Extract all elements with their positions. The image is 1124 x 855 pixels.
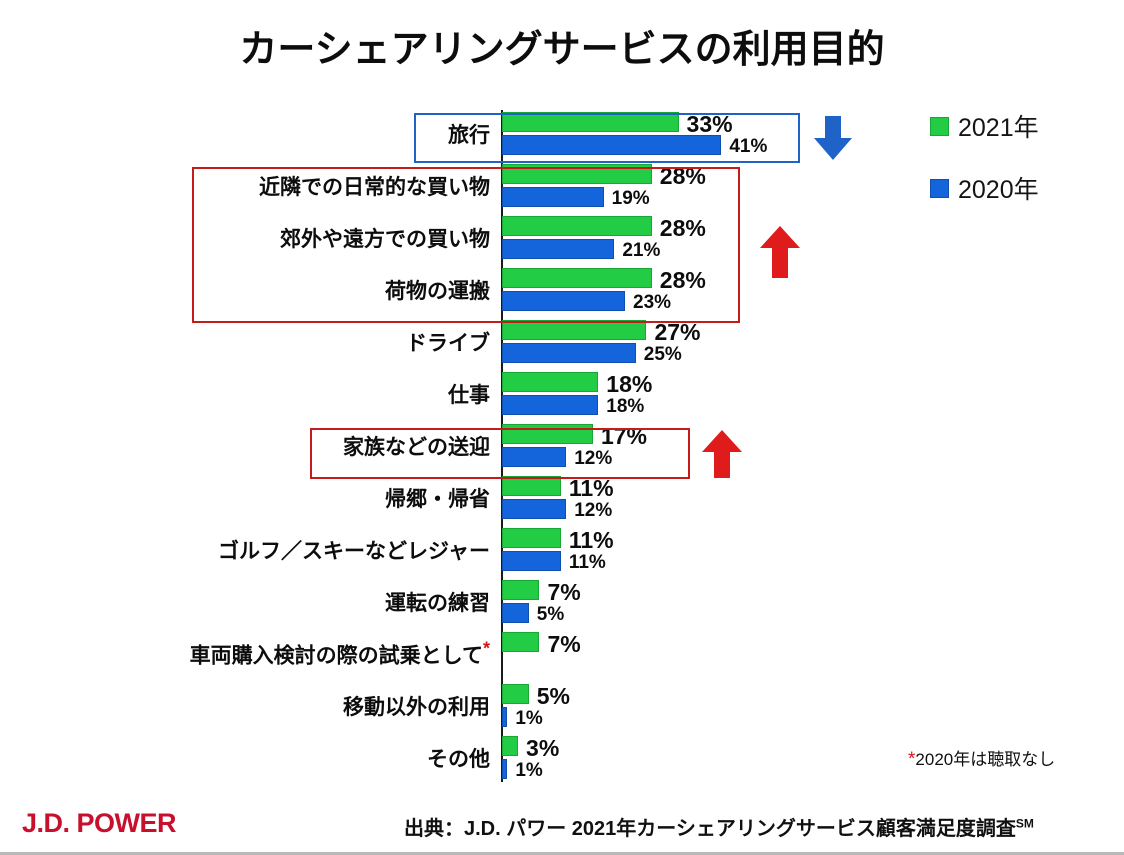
chart-row: 車両購入検討の際の試乗として*7% xyxy=(0,628,1124,680)
footnote: *2020年は聴取なし xyxy=(908,745,1055,771)
bar-value-2020: 1% xyxy=(515,709,542,728)
legend-swatch-2020-icon xyxy=(930,179,949,198)
bar-2021 xyxy=(502,476,561,496)
category-label: ドライブ xyxy=(406,327,500,357)
bar-2020 xyxy=(502,759,507,779)
bar-2020 xyxy=(502,499,566,519)
bar-value-2021: 11% xyxy=(569,529,614,552)
category-star-icon: * xyxy=(483,639,490,659)
bar-2020 xyxy=(502,395,598,415)
bar-2020 xyxy=(502,603,529,623)
legend-label-2021: 2021年 xyxy=(958,108,1039,144)
category-label: 仕事 xyxy=(448,379,500,409)
bar-value-2021: 7% xyxy=(547,633,580,656)
bar-2021 xyxy=(502,684,529,704)
category-label: 帰郷・帰省 xyxy=(385,483,500,513)
category-label: 移動以外の利用 xyxy=(343,691,500,721)
bar-value-2021: 5% xyxy=(537,685,570,708)
chart-page: カーシェアリングサービスの利用目的 旅行33%41%近隣での日常的な買い物28%… xyxy=(0,0,1124,855)
category-label: ゴルフ／スキーなどレジャー xyxy=(218,535,500,565)
bar-2021 xyxy=(502,580,539,600)
bar-2020 xyxy=(502,551,561,571)
bar-value-2020: 25% xyxy=(644,345,682,364)
legend-item-2021: 2021年 xyxy=(930,113,1100,139)
category-label: その他 xyxy=(427,743,500,773)
arrow-up-shopping-icon xyxy=(758,224,802,285)
legend-swatch-2021-icon xyxy=(930,117,949,136)
bar-2020 xyxy=(502,707,507,727)
arrow-up-family-icon xyxy=(700,428,744,485)
category-label: 運転の練習 xyxy=(385,587,500,617)
highlight-box-family xyxy=(310,428,690,479)
bar-value-2021: 27% xyxy=(654,321,700,344)
bar-2021 xyxy=(502,372,598,392)
legend-item-2020: 2020年 xyxy=(930,175,1100,201)
bar-value-2021: 11% xyxy=(569,477,614,500)
chart-legend: 2021年 2020年 xyxy=(930,113,1100,237)
arrow-down-icon xyxy=(812,114,854,167)
bar-value-2021: 7% xyxy=(547,581,580,604)
legend-label-2020: 2020年 xyxy=(958,170,1039,206)
bar-value-2020: 1% xyxy=(515,761,542,780)
chart-row: 運転の練習7%5% xyxy=(0,576,1124,628)
bar-value-2020: 18% xyxy=(606,397,644,416)
bar-2021 xyxy=(502,320,646,340)
page-title: カーシェアリングサービスの利用目的 xyxy=(0,18,1124,73)
bar-2021 xyxy=(502,528,561,548)
bar-value-2020: 12% xyxy=(574,501,612,520)
bar-2021 xyxy=(502,632,539,652)
chart-row: ゴルフ／スキーなどレジャー11%11% xyxy=(0,524,1124,576)
chart-row: 仕事18%18% xyxy=(0,368,1124,420)
highlight-box-travel xyxy=(414,113,800,163)
source-text: 出典：J.D. パワー 2021年カーシェアリングサービス顧客満足度調査 xyxy=(404,818,1016,840)
chart-row: ドライブ27%25% xyxy=(0,316,1124,368)
highlight-box-shopping xyxy=(192,167,740,323)
bar-2021 xyxy=(502,736,518,756)
bar-value-2020: 11% xyxy=(569,553,606,572)
chart-row: 移動以外の利用5%1% xyxy=(0,680,1124,732)
source-note: 出典：J.D. パワー 2021年カーシェアリングサービス顧客満足度調査SM xyxy=(404,812,1034,841)
bar-value-2021: 18% xyxy=(606,373,652,396)
chart-row: 帰郷・帰省11%12% xyxy=(0,472,1124,524)
bar-value-2021: 3% xyxy=(526,737,559,760)
jd-power-logo: J.D. POWER xyxy=(22,808,176,839)
category-label: 車両購入検討の際の試乗として* xyxy=(190,639,500,670)
footnote-text: 2020年は聴取なし xyxy=(915,750,1055,769)
source-sm-mark: SM xyxy=(1016,816,1034,830)
bar-value-2020: 5% xyxy=(537,605,564,624)
bar-2020 xyxy=(502,343,636,363)
